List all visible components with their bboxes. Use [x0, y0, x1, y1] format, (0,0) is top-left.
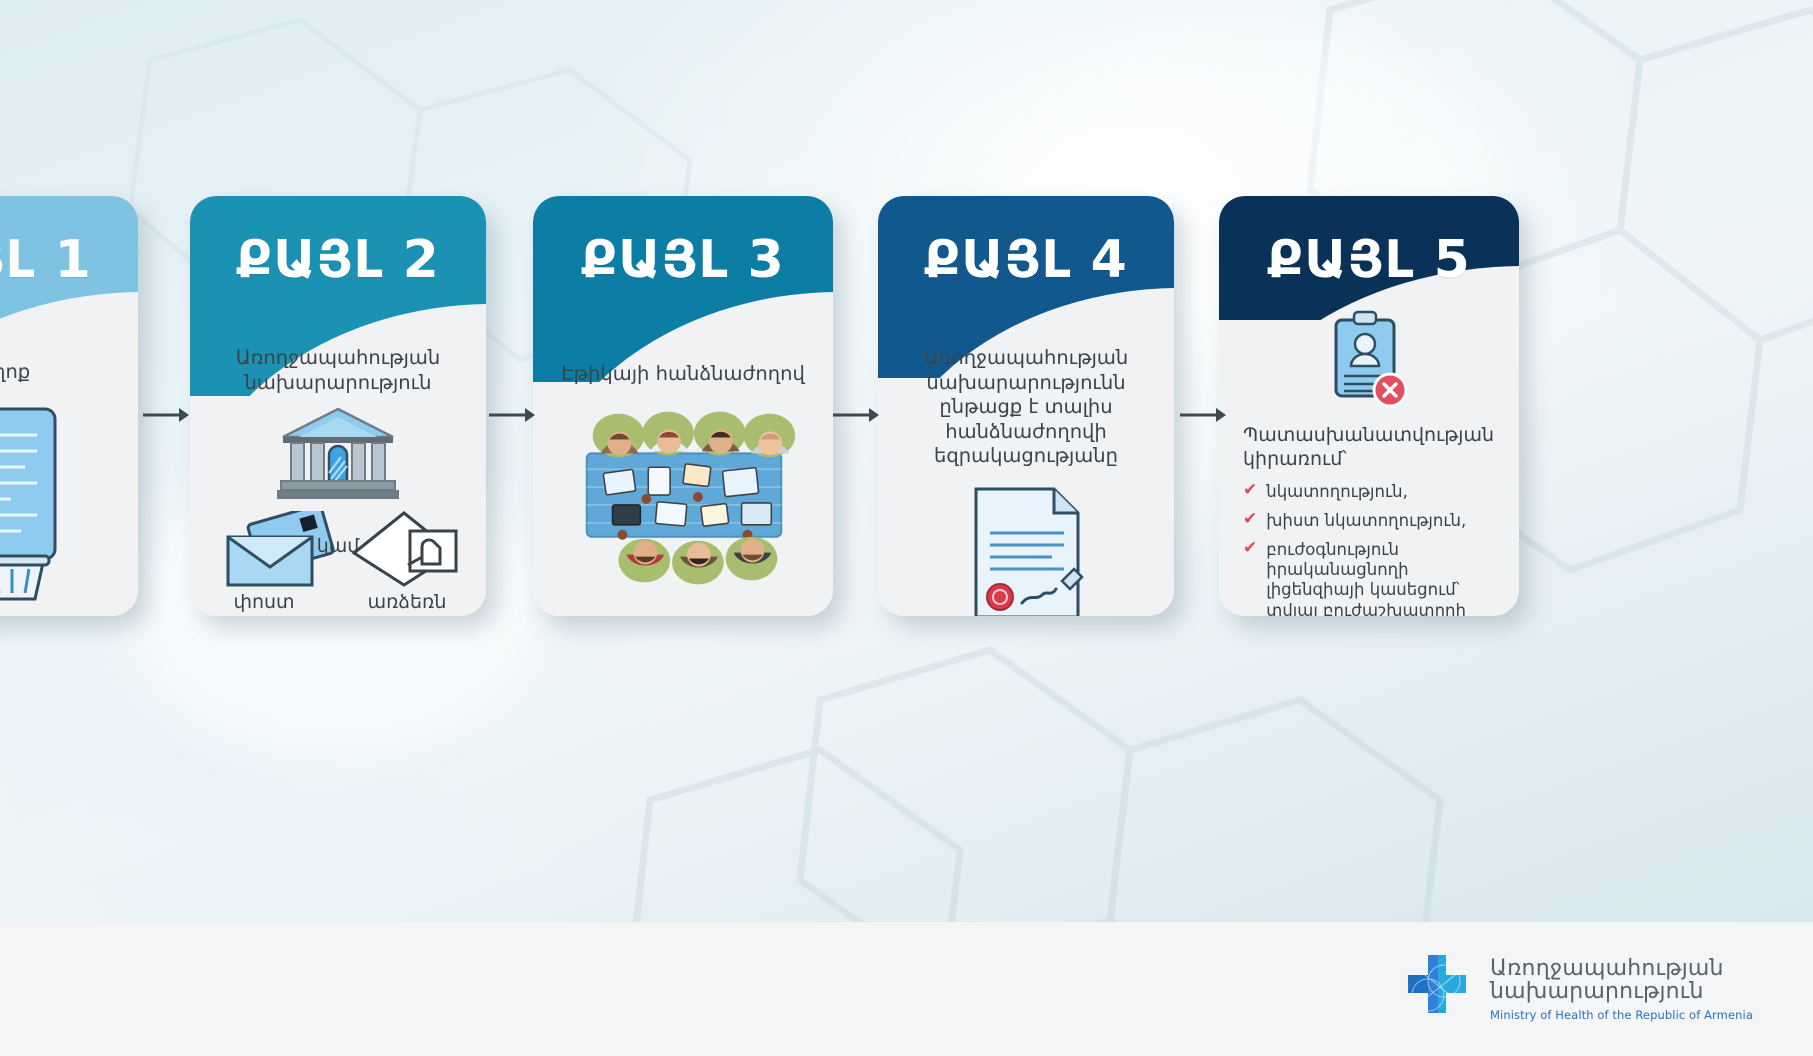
step-4-illustration	[898, 485, 1154, 616]
step-2-options: փոստ կամ առձեռն	[210, 511, 466, 616]
meeting-table-icon	[553, 405, 813, 595]
step-3-title: ՔԱՅԼ 3	[533, 230, 833, 290]
step-1-description: ...բողոք	[0, 360, 118, 385]
step-card-5[interactable]: ՔԱՅԼ 5	[1219, 196, 1519, 616]
step-2-building-illustration	[210, 407, 466, 501]
step-1-content: ...բողոք	[0, 326, 138, 606]
step-card-1[interactable]: ՔԱՅԼ 1 ...բողոք	[0, 196, 138, 616]
step-2-description: Առողջապահության նախարարություն	[218, 346, 458, 395]
arrow-right-icon-2	[489, 404, 535, 426]
logo-line-2: նախարարություն	[1490, 980, 1753, 1003]
card-3-body: ՔԱՅԼ 3 Էթիկայի հանձնաժողով	[533, 196, 833, 616]
check-icon: ✔	[1243, 540, 1257, 558]
step-2-option-left-label: փոստ	[204, 591, 324, 613]
process-steps-row: ՔԱՅԼ 1 ...բողոք	[0, 196, 1813, 636]
check-icon: ✔	[1243, 511, 1257, 529]
checklist-item-label: խիստ նկատողություն,	[1266, 511, 1466, 531]
arrow-right-icon-3	[833, 404, 879, 426]
checklist-item: ✔ խիստ նկատողություն,	[1243, 511, 1495, 531]
card-4-body: ՔԱՅԼ 4 Առողջապահության նախարարությունն ը…	[878, 196, 1174, 616]
step-card-2[interactable]: ՔԱՅԼ 2 Առողջապահության նախարարություն	[190, 196, 486, 616]
wastebasket-icon	[0, 556, 49, 599]
moh-cross-mark-icon	[1400, 951, 1474, 1027]
logo-text-block: Առողջապահության նախարարություն Ministry …	[1490, 957, 1753, 1021]
step-5-title: ՔԱՅԼ 5	[1219, 230, 1519, 290]
checklist-item: ✔ նկատողություն,	[1243, 482, 1495, 502]
hand-delivery-envelope-icon	[348, 507, 464, 591]
footer-bar: Առողջապահության նախարարություն Ministry …	[0, 922, 1813, 1056]
checklist-item-label: նկատողություն,	[1266, 482, 1408, 502]
step-2-option-right-label: առձեռն	[342, 591, 472, 613]
arrow-right-icon-1	[143, 404, 189, 426]
step-4-title: ՔԱՅԼ 4	[878, 230, 1174, 290]
step-5-checklist: ✔ նկատողություն, ✔ խիստ նկատողություն, ✔…	[1243, 482, 1495, 616]
step-1-illustration	[0, 401, 118, 601]
document-easel-icon	[0, 401, 95, 601]
step-5-description: Պատասխանատվության կիրառում՝	[1243, 424, 1495, 472]
revoked-license-badge-icon	[1326, 310, 1412, 414]
step-2-title: ՔԱՅԼ 2	[190, 230, 486, 290]
infographic-canvas: ՔԱՅԼ 1 ...բողոք	[0, 0, 1813, 1056]
checklist-item-label: բուժօգնություն իրականացնողի լիցենզիայի կ…	[1266, 540, 1495, 616]
step-3-illustration	[553, 405, 813, 595]
step-4-content: Առողջապահության նախարարությունն ընթացք է…	[878, 334, 1174, 606]
step-5-content: Պատասխանատվության կիրառում՝ ✔ նկատողությ…	[1219, 306, 1519, 606]
ministry-building-icon	[277, 407, 399, 501]
step-3-description: Էթիկայի հանձնաժողով	[553, 362, 813, 387]
checklist-item: ✔ բուժօգնություն իրականացնողի լիցենզիայի…	[1243, 540, 1495, 616]
logo-line-3: Ministry of Health of the Republic of Ar…	[1490, 1009, 1753, 1021]
card-2-body: ՔԱՅԼ 2 Առողջապահության նախարարություն	[190, 196, 486, 616]
step-card-3[interactable]: ՔԱՅԼ 3 Էթիկայի հանձնաժողով	[533, 196, 833, 616]
ministry-of-health-armenia-logo: Առողջապահության նախարարություն Ministry …	[1400, 951, 1753, 1027]
step-4-description: Առողջապահության նախարարությունն ընթացք է…	[901, 346, 1151, 469]
step-2-content: Առողջապահության նախարարություն	[190, 326, 486, 606]
step-card-4[interactable]: ՔԱՅԼ 4 Առողջապահության նախարարությունն ը…	[878, 196, 1174, 616]
card-1-body: ՔԱՅԼ 1 ...բողոք	[0, 196, 138, 616]
step-1-title: ՔԱՅԼ 1	[0, 230, 138, 290]
signed-document-icon	[966, 485, 1086, 616]
step-3-content: Էթիկայի հանձնաժողով	[533, 346, 833, 606]
step-5-illustration	[1243, 310, 1495, 414]
arrow-right-icon-4	[1180, 404, 1226, 426]
logo-line-1: Առողջապահության	[1490, 957, 1753, 980]
check-icon: ✔	[1243, 482, 1257, 500]
card-5-body: ՔԱՅԼ 5	[1219, 196, 1519, 616]
